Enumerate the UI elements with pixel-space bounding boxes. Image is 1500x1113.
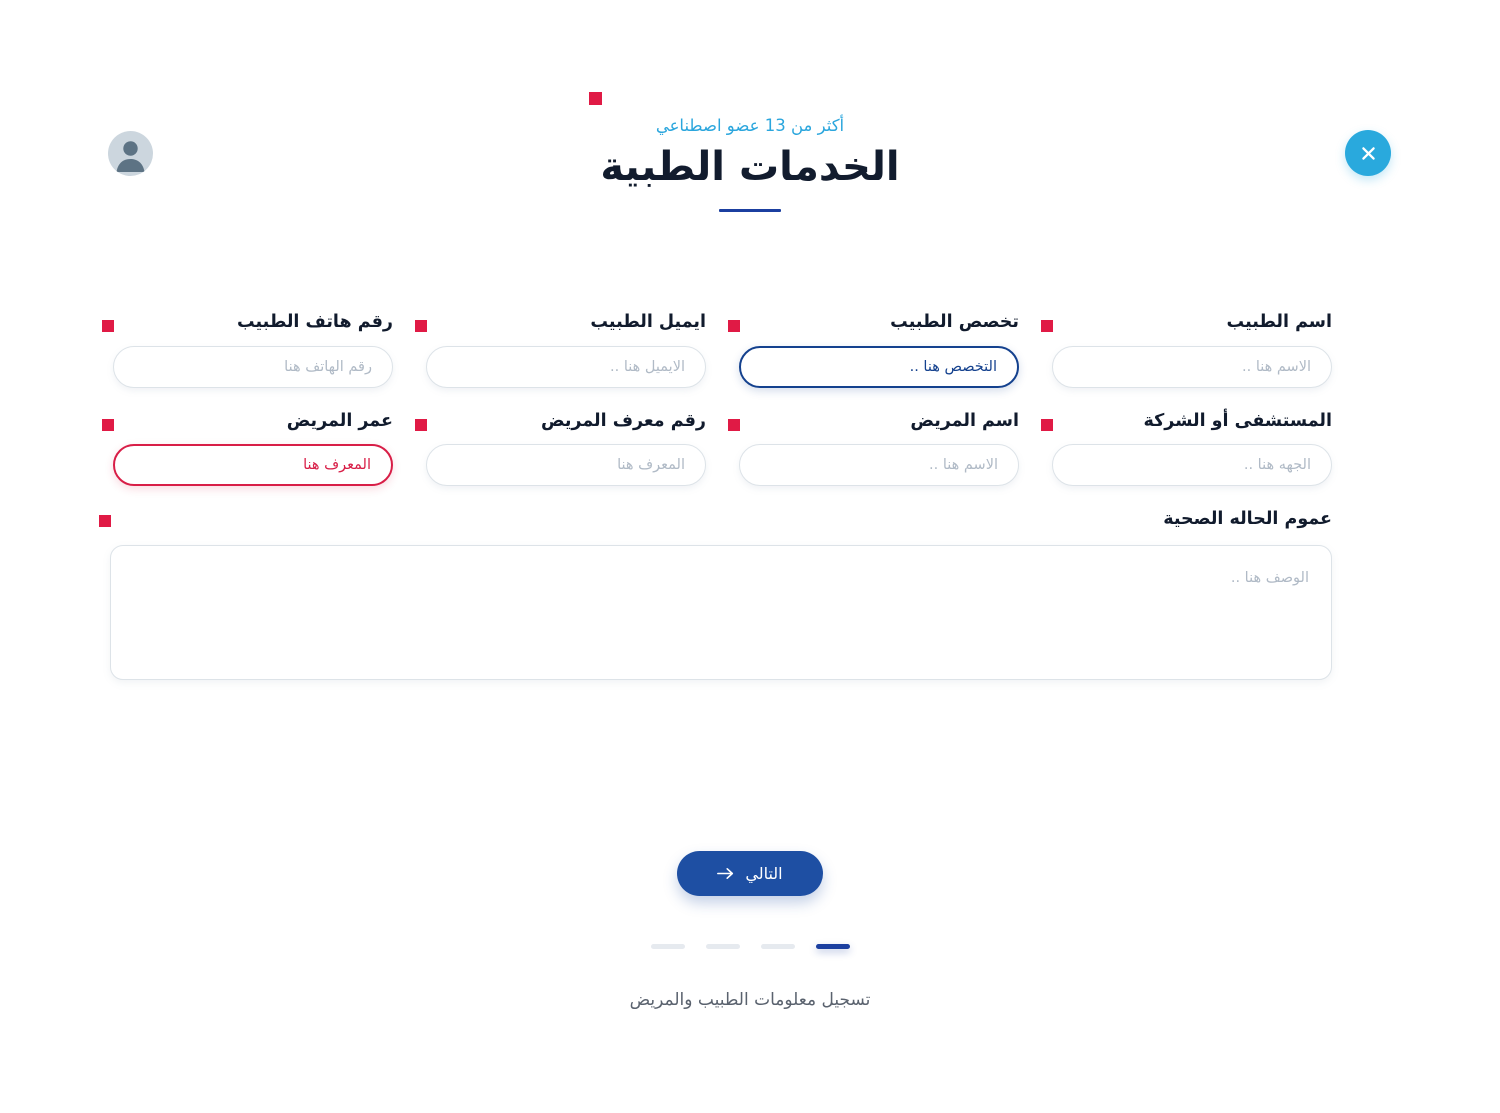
doctor-email-input[interactable]: [426, 346, 706, 388]
doctor-specialty-input[interactable]: [739, 346, 1019, 388]
medical-services-form-page: أكثر من 13 عضو اصطناعي الخدمات الطبية اس…: [0, 0, 1500, 1113]
progress-step-3[interactable]: [706, 944, 740, 949]
field-hospital-or-company: المستشفى أو الشركة: [1052, 409, 1332, 487]
field-doctor-email: ايميل الطبيب: [426, 310, 706, 388]
progress-step-2[interactable]: [761, 944, 795, 949]
field-label: رقم هاتف الطبيب: [113, 310, 393, 335]
next-button-label: التالي: [745, 866, 782, 882]
required-marker-icon: [102, 419, 114, 431]
progress-steps: [0, 944, 1500, 949]
required-marker-icon: [1041, 419, 1053, 431]
patient-id-number-input[interactable]: [426, 444, 706, 486]
field-label: ايميل الطبيب: [426, 310, 706, 335]
hospital-or-company-input[interactable]: [1052, 444, 1332, 486]
next-button[interactable]: التالي: [677, 851, 823, 896]
required-marker-icon: [589, 92, 602, 105]
required-marker-icon: [99, 515, 111, 527]
page-header: أكثر من 13 عضو اصطناعي الخدمات الطبية: [0, 96, 1500, 212]
field-label: المستشفى أو الشركة: [1052, 409, 1332, 434]
close-button[interactable]: [1345, 130, 1391, 176]
form-actions: التالي: [0, 851, 1500, 896]
field-doctor-specialty: تخصص الطبيب: [739, 310, 1019, 388]
field-label: اسم الطبيب: [1052, 310, 1332, 335]
close-icon: [1360, 145, 1377, 162]
field-label: رقم معرف المريض: [426, 409, 706, 434]
required-marker-icon: [728, 419, 740, 431]
field-label: عموم الحاله الصحية: [110, 507, 1332, 532]
field-label: تخصص الطبيب: [739, 310, 1019, 335]
field-label: عمر المريض: [113, 409, 393, 434]
field-patient-id-number: رقم معرف المريض: [426, 409, 706, 487]
field-general-health-condition: عموم الحاله الصحية: [110, 507, 1332, 684]
form-row-2: المستشفى أو الشركة اسم المريض رقم معرف ا…: [110, 409, 1332, 487]
required-marker-icon: [1041, 320, 1053, 332]
arrow-left-icon: [717, 866, 734, 881]
field-patient-age: عمر المريض: [113, 409, 393, 487]
patient-name-input[interactable]: [739, 444, 1019, 486]
field-label: اسم المريض: [739, 409, 1019, 434]
required-marker-icon: [728, 320, 740, 332]
required-marker-icon: [415, 419, 427, 431]
field-patient-name: اسم المريض: [739, 409, 1019, 487]
avatar[interactable]: [108, 131, 153, 176]
title-underline: [719, 209, 781, 212]
doctor-name-input[interactable]: [1052, 346, 1332, 388]
field-doctor-phone: رقم هاتف الطبيب: [113, 310, 393, 388]
footer-caption: تسجيل معلومات الطبيب والمريض: [0, 988, 1500, 1014]
form-row-1: اسم الطبيب تخصص الطبيب ايميل الطبيب رقم …: [110, 310, 1332, 388]
required-marker-icon: [415, 320, 427, 332]
field-doctor-name: اسم الطبيب: [1052, 310, 1332, 388]
progress-step-1[interactable]: [816, 944, 850, 949]
doctor-phone-input[interactable]: [113, 346, 393, 388]
page-title: الخدمات الطبية: [600, 143, 899, 191]
progress-step-4[interactable]: [651, 944, 685, 949]
page-subtitle: أكثر من 13 عضو اصطناعي: [600, 96, 899, 137]
patient-age-input[interactable]: [113, 444, 393, 486]
required-marker-icon: [102, 320, 114, 332]
form-fields-area: اسم الطبيب تخصص الطبيب ايميل الطبيب رقم …: [110, 310, 1332, 684]
general-health-condition-textarea[interactable]: [110, 545, 1332, 680]
